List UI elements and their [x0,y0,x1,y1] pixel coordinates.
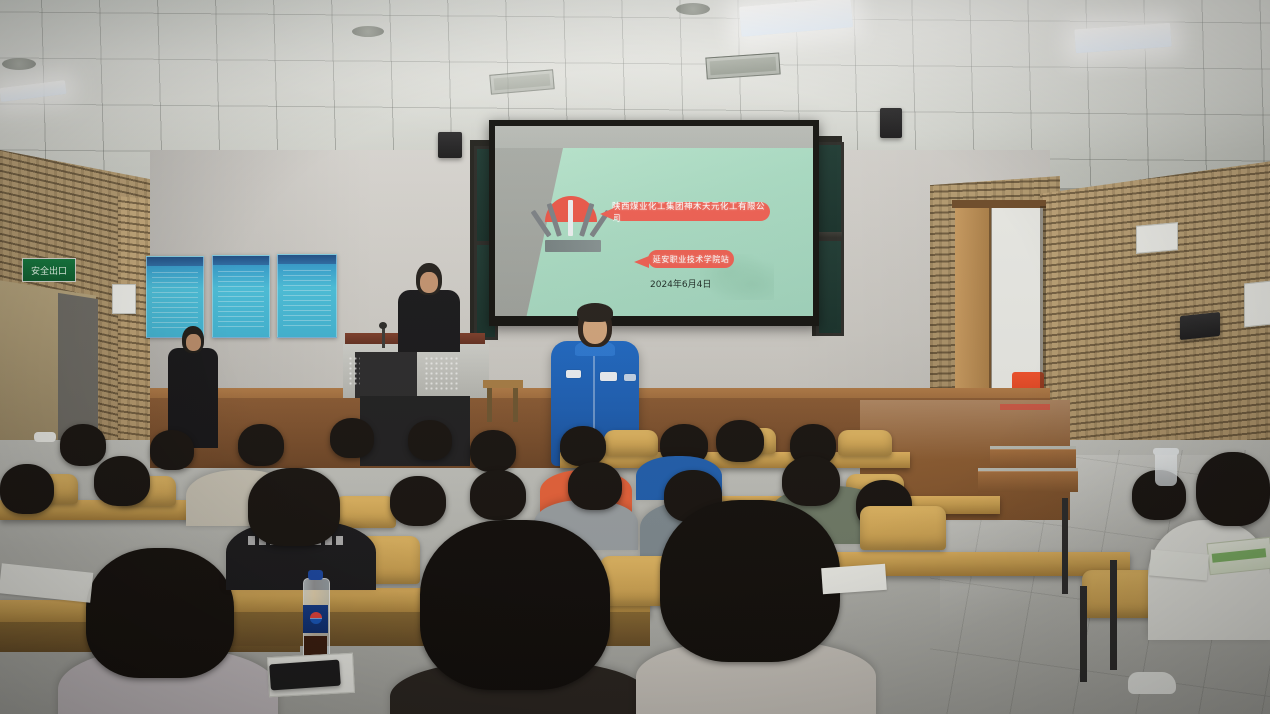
wall-speaker-center-left [438,132,462,158]
desk-leg-2 [1110,560,1117,670]
stage-step-upper [990,448,1076,470]
audience-head-m1 [390,476,446,526]
slide-callout-tail-1 [600,208,614,220]
blackboard-right-lower [816,238,844,336]
poster-center [212,255,270,338]
poster-left-body [152,272,198,328]
audience-head-m9 [0,464,54,514]
speaker-badge-left [566,370,581,378]
slide-callout-tail-2 [634,256,649,268]
blackboard-right-upper [816,142,844,240]
slide-date-text: 2024年6月4日 [650,280,711,290]
poster-left-header [147,257,203,266]
lectern-microphone-head [379,322,387,329]
drink-cup [1155,452,1177,486]
audience-head-f8 [238,424,284,466]
poster-right-header [278,255,336,264]
wall-attendant-face [186,334,201,351]
audience-head-f5 [716,420,764,462]
floor-red-mat [1000,404,1050,410]
seat-back-far-3 [838,430,892,456]
audience-head-f9 [150,430,194,470]
audience-head-front-1 [86,548,234,678]
stage-step-edge-upper [990,446,1076,449]
hair-clip [34,432,56,442]
door-header [952,200,1046,208]
left-wall-notice [112,284,136,314]
door-panel[interactable] [955,208,991,406]
audience-head-m5 [782,456,840,506]
lectern-speaker-grille [424,356,460,392]
lecture-hall-photo: 安全出口 陕西煤业 [0,0,1270,714]
company-logo-rays [543,198,599,236]
white-sneaker [1128,672,1176,694]
audience-head-f2 [470,430,516,472]
exit-sign-label: 安全出口 [31,264,67,277]
audience-head-f1 [408,420,452,460]
poster-center-body [218,271,264,328]
right-wall-notice-1 [1136,222,1178,254]
wall-corner-shadow [1040,206,1046,406]
podium-host-face [420,272,438,293]
audience-head-front-3 [660,500,840,662]
stage-step-edge-lower [978,468,1078,471]
exit-sign: 安全出口 [22,258,76,282]
wall-speaker-center-right [880,108,902,138]
lectern-front-panel [355,352,417,398]
speaker-hair [577,303,613,322]
seat-back-front-3 [860,506,946,550]
audience-head-f10 [60,424,106,466]
poster-center-header [213,256,269,265]
seat-back-far-1 [604,430,658,456]
desk-leg-3 [1080,586,1087,682]
audience-head-front-2 [420,520,610,690]
slide-subtitle-text: 延安职业技术学院站 [653,254,730,265]
speaker-badge-sleeve [624,374,636,381]
side-stool-seat [483,380,523,388]
smartphone-on-desk[interactable] [269,660,341,691]
door-edge [989,208,992,406]
papers-on-desk [1149,550,1209,581]
slide-date: 2024年6月4日 [650,277,736,291]
seat-back-mid-4 [334,496,396,528]
papers-on-desk-2 [821,564,887,594]
pepsi-bottle-cap [308,570,323,580]
slide-subtitle: 延安职业技术学院站 [648,250,734,268]
drink-cup-lid [1153,448,1179,455]
audience-head-f3 [560,426,606,466]
company-logo-text [545,240,601,252]
audience-head-m2 [470,470,526,520]
right-wall-notice-2 [1244,281,1270,328]
audience-head-front-4 [1196,452,1270,526]
lectern-side-grille [348,356,360,386]
lectern-microphone [382,326,385,348]
audience-head-f7 [330,418,374,458]
ceiling-downlight-2 [352,26,384,37]
slide-company-title-text: 陕西煤业化工集团神木天元化工有限公司 [612,200,770,224]
ceiling-downlight-1 [2,58,36,70]
ceiling-downlight-3 [676,3,710,15]
podium-host-body [398,290,460,352]
wall-speaker-right [1180,312,1220,340]
audience-head-m3 [568,462,622,510]
audience-head-black-tee [248,468,340,546]
stage-step-lower [978,470,1078,492]
poster-right-body [283,270,331,328]
side-stool-leg-1 [487,388,492,422]
slide-company-title: 陕西煤业化工集团神木天元化工有限公司 [612,202,770,221]
poster-right [277,254,337,338]
desk-leg-1 [1062,498,1068,594]
audience-head-m8 [94,456,150,506]
side-stool-leg-2 [513,388,518,422]
speaker-badge-right [600,372,617,381]
pepsi-logo-icon [310,612,322,624]
